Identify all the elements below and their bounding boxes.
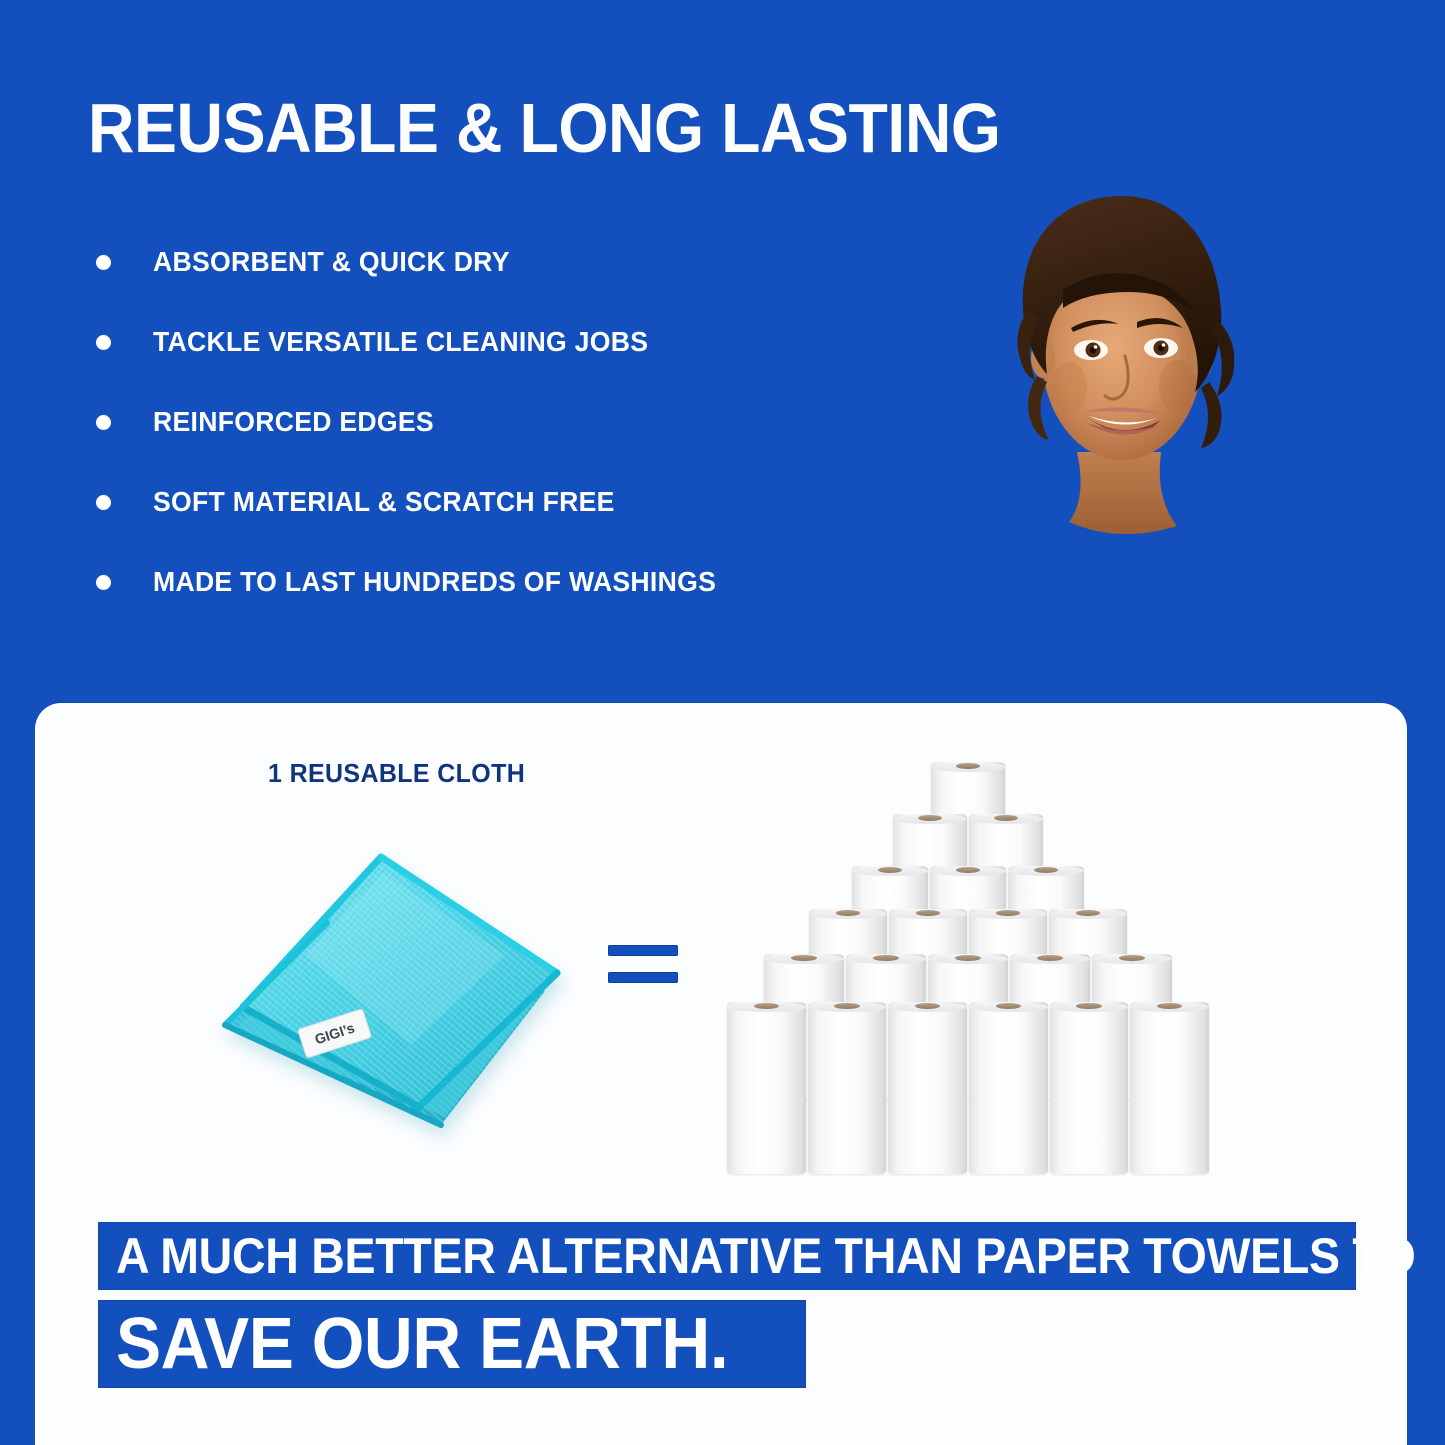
bullet-label: SOFT MATERIAL & SCRATCH FREE (153, 486, 615, 518)
bullet-label: MADE TO LAST HUNDREDS OF WASHINGS (153, 566, 716, 598)
bullet-label: REINFORCED EDGES (153, 406, 434, 438)
page-title: REUSABLE & LONG LASTING (88, 93, 1001, 163)
bullet-dot-icon (96, 335, 111, 350)
tagline-banner-line1: A MUCH BETTER ALTERNATIVE THAN PAPER TOW… (98, 1222, 1356, 1290)
microfiber-cloth-image: GIGI’s (205, 795, 595, 1185)
bullet-dot-icon (96, 575, 111, 590)
pyramid-row (726, 1002, 1210, 1174)
list-item: TACKLE VERSATILE CLEANING JOBS (96, 302, 916, 382)
paper-towel-roll (1050, 1002, 1129, 1174)
infographic-root: REUSABLE & LONG LASTING ABSORBENT & QUIC… (0, 0, 1445, 1445)
list-item: ABSORBENT & QUICK DRY (96, 222, 916, 302)
list-item: MADE TO LAST HUNDREDS OF WASHINGS (96, 542, 916, 622)
paper-towel-roll (808, 1002, 887, 1174)
paper-towel-roll (727, 1002, 806, 1174)
tagline-line2-text: SAVE OUR EARTH. (116, 1303, 728, 1385)
woman-portrait-image (985, 160, 1260, 560)
bullet-dot-icon (96, 495, 111, 510)
tagline-banner-line2: SAVE OUR EARTH. (98, 1300, 806, 1388)
paper-towel-pyramid-image (726, 762, 1210, 1172)
bullet-label: ABSORBENT & QUICK DRY (153, 246, 510, 278)
bullet-label: TACKLE VERSATILE CLEANING JOBS (153, 326, 648, 358)
bullet-dot-icon (96, 255, 111, 270)
tagline-line1-text: A MUCH BETTER ALTERNATIVE THAN PAPER TOW… (116, 1227, 1416, 1285)
reusable-cloth-caption: 1 REUSABLE CLOTH (268, 758, 525, 789)
paper-towel-roll (888, 1002, 967, 1174)
brand-mascot: GIGI’s (975, 160, 1275, 640)
paper-towel-roll (969, 1002, 1048, 1174)
list-item: SOFT MATERIAL & SCRATCH FREE (96, 462, 916, 542)
bullet-dot-icon (96, 415, 111, 430)
paper-towel-roll (1130, 1002, 1209, 1174)
feature-bullet-list: ABSORBENT & QUICK DRY TACKLE VERSATILE C… (96, 222, 916, 622)
equals-icon (608, 945, 678, 995)
list-item: REINFORCED EDGES (96, 382, 916, 462)
